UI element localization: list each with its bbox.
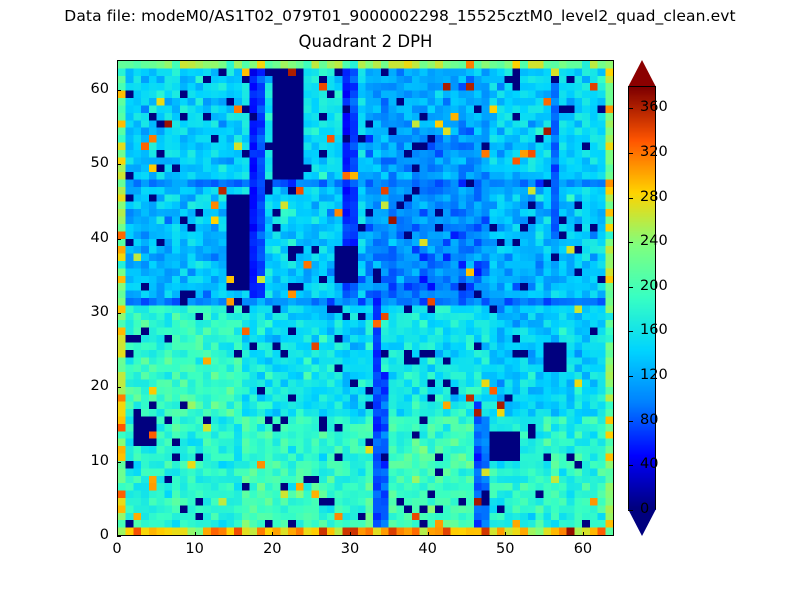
colorbar-tick-mark xyxy=(628,198,633,199)
y-tick-mark xyxy=(117,387,121,388)
figure-canvas: Data file: modeM0/AS1T02_079T01_90000022… xyxy=(0,0,800,600)
y-tick-label: 40 xyxy=(57,230,109,246)
x-tick-label: 50 xyxy=(475,541,535,557)
colorbar-tick-mark xyxy=(628,331,633,332)
heatmap-image xyxy=(118,61,613,535)
data-file-label: Data file: modeM0/AS1T02_079T01_90000022… xyxy=(0,7,800,25)
x-tick-mark xyxy=(583,532,584,536)
y-tick-mark xyxy=(117,239,121,240)
colorbar-tick-label: 200 xyxy=(640,278,668,294)
colorbar-tick-label: 40 xyxy=(640,456,658,472)
y-tick-label: 50 xyxy=(57,155,109,171)
y-tick-mark xyxy=(117,164,121,165)
colorbar-tick-label: 240 xyxy=(640,233,668,249)
colorbar-tick-label: 160 xyxy=(640,322,668,338)
colorbar-tick-mark xyxy=(628,108,633,109)
y-tick-mark xyxy=(117,313,121,314)
colorbar-tick-label: 280 xyxy=(640,189,668,205)
colorbar-over-arrow xyxy=(628,60,656,87)
x-tick-mark xyxy=(505,532,506,536)
colorbar-tick-label: 80 xyxy=(640,412,658,428)
heatmap-axes xyxy=(117,60,614,536)
y-tick-mark xyxy=(117,462,121,463)
y-tick-mark xyxy=(117,536,121,537)
x-tick-label: 10 xyxy=(165,541,225,557)
y-tick-label: 20 xyxy=(57,378,109,394)
colorbar-tick-mark xyxy=(628,376,633,377)
x-tick-label: 0 xyxy=(87,541,147,557)
x-tick-mark xyxy=(428,532,429,536)
x-tick-label: 40 xyxy=(398,541,458,557)
x-tick-label: 20 xyxy=(242,541,302,557)
y-tick-label: 0 xyxy=(57,527,109,543)
y-tick-label: 30 xyxy=(57,304,109,320)
colorbar-tick-mark xyxy=(628,510,633,511)
y-tick-label: 10 xyxy=(57,453,109,469)
x-tick-label: 30 xyxy=(320,541,380,557)
colorbar-tick-label: 0 xyxy=(640,501,649,517)
colorbar-tick-mark xyxy=(628,421,633,422)
y-tick-label: 60 xyxy=(57,81,109,97)
colorbar-tick-label: 320 xyxy=(640,144,668,160)
colorbar-tick-label: 120 xyxy=(640,367,668,383)
plot-title: Quadrant 2 DPH xyxy=(117,32,614,51)
colorbar-tick-mark xyxy=(628,287,633,288)
x-tick-mark xyxy=(350,532,351,536)
colorbar-tick-mark xyxy=(628,153,633,154)
y-tick-mark xyxy=(117,90,121,91)
colorbar-tick-mark xyxy=(628,242,633,243)
x-tick-mark xyxy=(272,532,273,536)
x-tick-mark xyxy=(195,532,196,536)
colorbar-tick-mark xyxy=(628,465,633,466)
x-tick-label: 60 xyxy=(553,541,613,557)
colorbar-tick-label: 360 xyxy=(640,99,668,115)
